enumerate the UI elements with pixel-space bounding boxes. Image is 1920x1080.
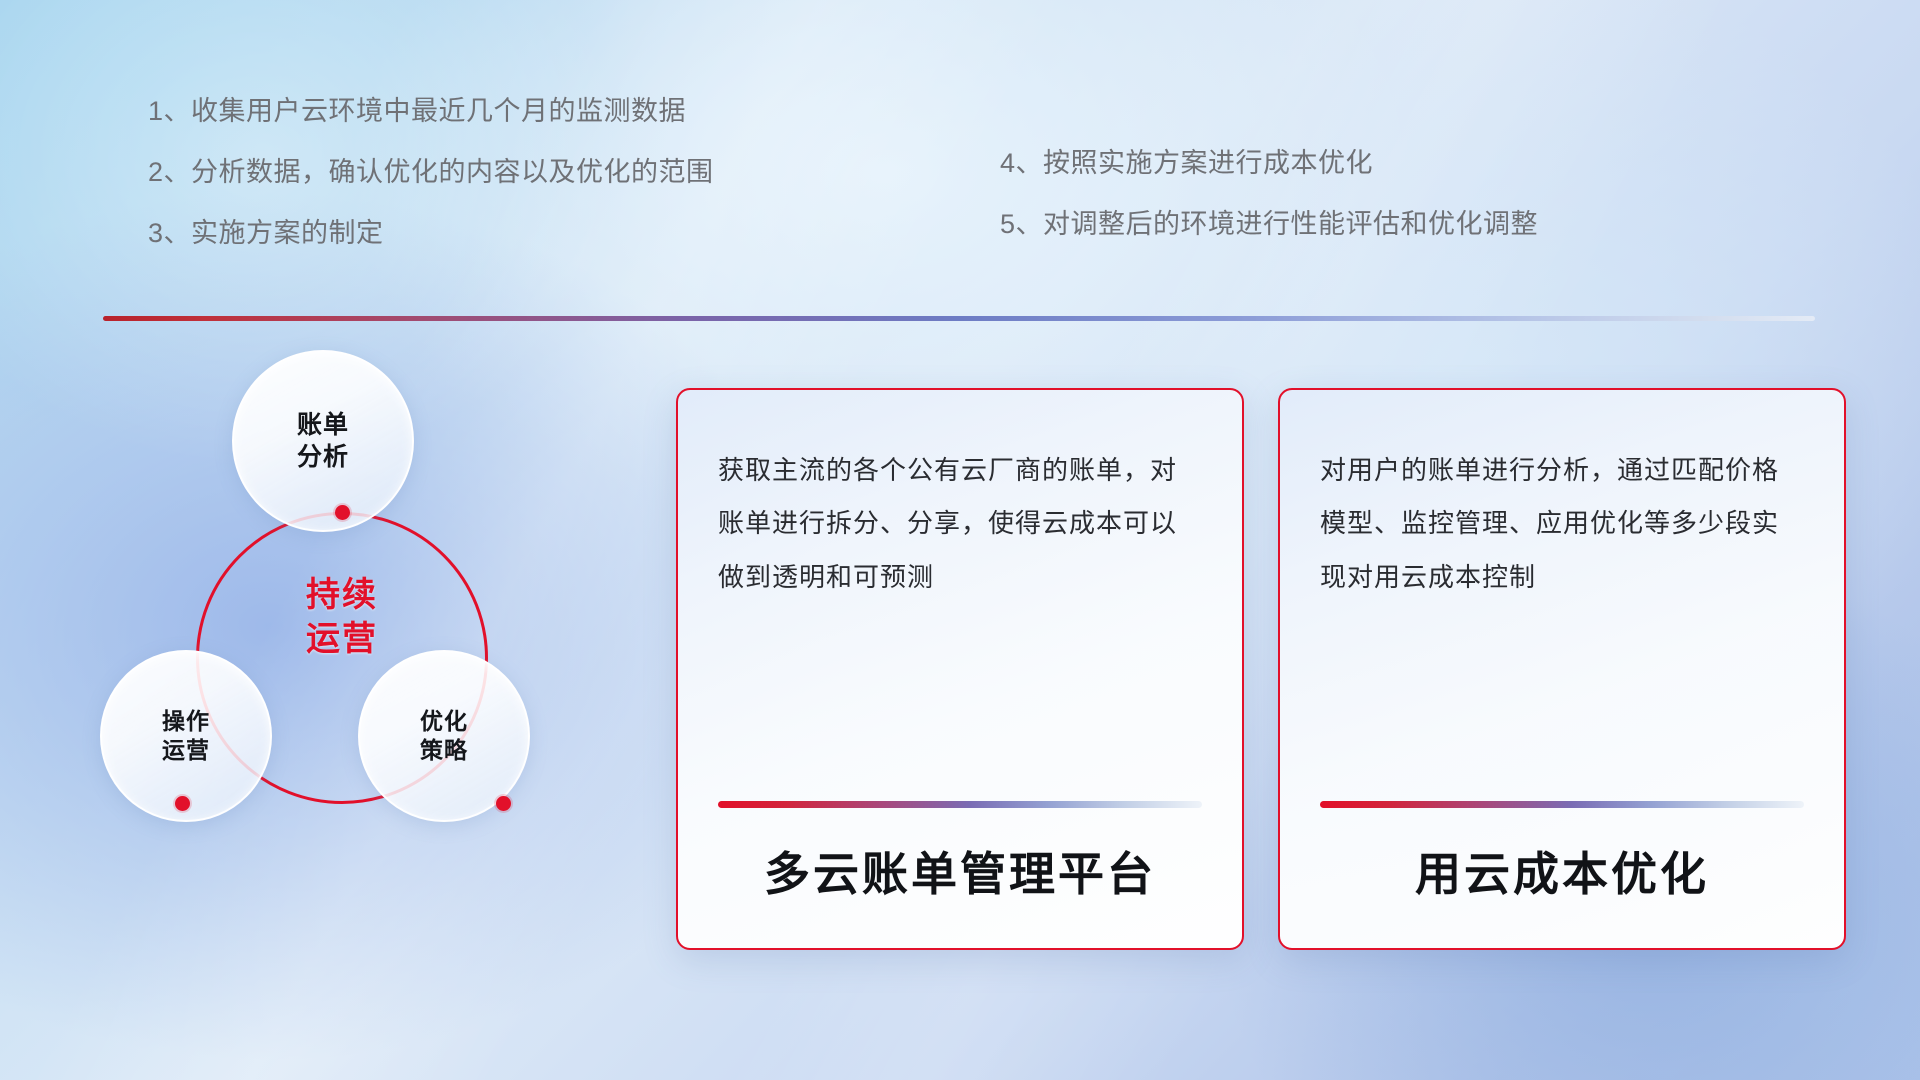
venn-connector-dot-top (335, 505, 350, 520)
step-item-1: 1、收集用户云环境中最近几个月的监测数据 (148, 98, 808, 125)
info-card-2-title: 用云成本优化 (1320, 838, 1804, 904)
venn-node-right-line2: 策略 (420, 736, 468, 765)
step-item-2: 2、分析数据，确认优化的内容以及优化的范围 (148, 159, 808, 186)
venn-center-label: 持续 运营 (196, 574, 488, 661)
venn-center-label-line1: 持续 (196, 574, 488, 618)
step-item-5: 5、对调整后的环境进行性能评估和优化调整 (1000, 211, 1720, 238)
info-card-1-divider (718, 801, 1202, 808)
info-card-2-divider (1320, 801, 1804, 808)
venn-node-left-line2: 运营 (162, 736, 210, 765)
step-item-3: 3、实施方案的制定 (148, 220, 808, 247)
slide-canvas: 1、收集用户云环境中最近几个月的监测数据 2、分析数据，确认优化的内容以及优化的… (0, 0, 1920, 1080)
step-item-4: 4、按照实施方案进行成本优化 (1000, 150, 1720, 177)
info-card-1-body: 获取主流的各个公有云厂商的账单，对账单进行拆分、分享，使得云成本可以做到透明和可… (718, 444, 1202, 604)
section-divider-rule (103, 316, 1815, 321)
venn-diagram: 持续 运营 账单 分析 操作 运营 优化 策略 (100, 350, 570, 950)
venn-node-billing-analysis[interactable]: 账单 分析 (232, 350, 414, 532)
venn-node-left-line1: 操作 (162, 707, 210, 736)
info-card-cost-optimization[interactable]: 对用户的账单进行分析，通过匹配价格模型、监控管理、应用优化等多少段实现对用云成本… (1278, 388, 1846, 950)
steps-right-column: 4、按照实施方案进行成本优化 5、对调整后的环境进行性能评估和优化调整 (1000, 150, 1720, 272)
steps-left-column: 1、收集用户云环境中最近几个月的监测数据 2、分析数据，确认优化的内容以及优化的… (148, 98, 808, 281)
info-card-billing-platform[interactable]: 获取主流的各个公有云厂商的账单，对账单进行拆分、分享，使得云成本可以做到透明和可… (676, 388, 1244, 950)
venn-connector-dot-bottom-right (496, 796, 511, 811)
venn-node-right-line1: 优化 (420, 707, 468, 736)
info-card-2-body: 对用户的账单进行分析，通过匹配价格模型、监控管理、应用优化等多少段实现对用云成本… (1320, 444, 1804, 604)
info-card-1-title: 多云账单管理平台 (718, 838, 1202, 904)
venn-node-top-line1: 账单 (297, 409, 349, 441)
venn-connector-dot-bottom-left (175, 796, 190, 811)
venn-node-top-line2: 分析 (297, 441, 349, 473)
